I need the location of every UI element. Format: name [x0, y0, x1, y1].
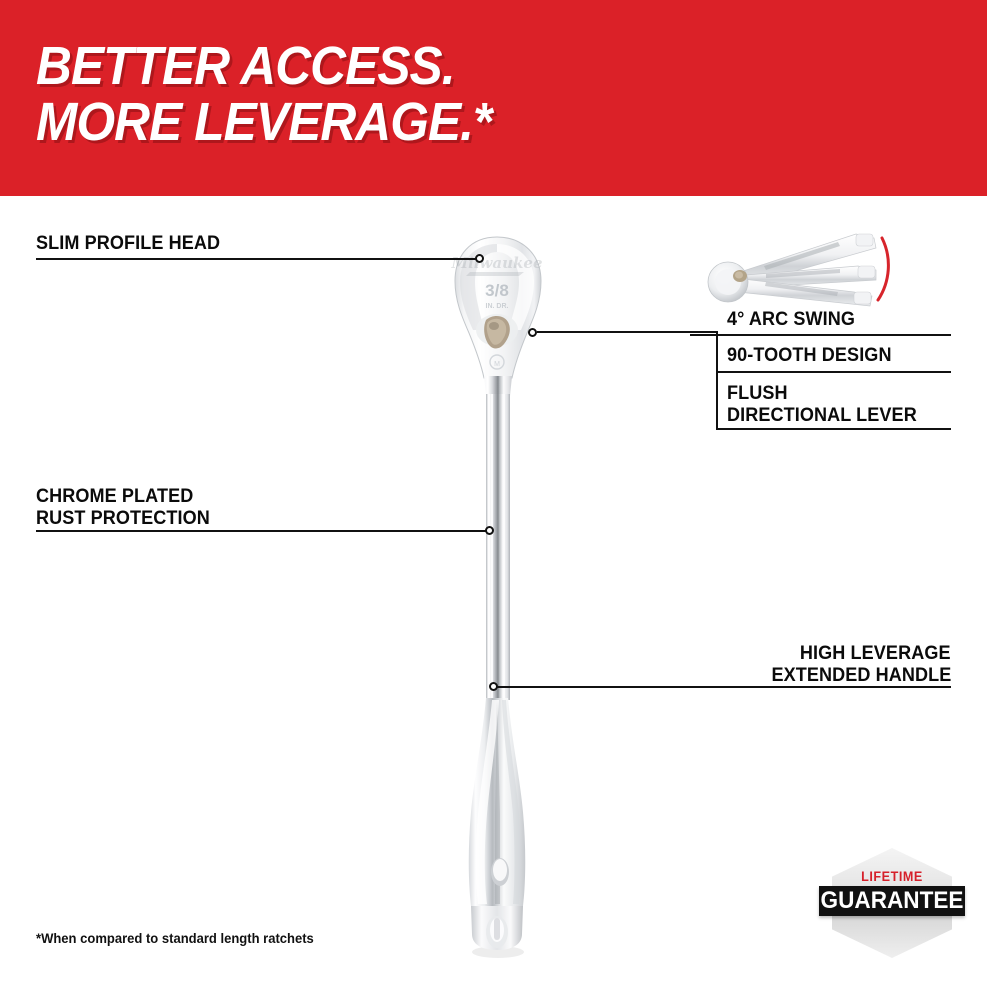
callout-arc-swing-label: 4° ARC SWING: [727, 309, 855, 331]
callout-chrome-plated-line-2: RUST PROTECTION: [36, 508, 210, 530]
callout-flush-lever-line-2: DIRECTIONAL LEVER: [727, 405, 917, 427]
callout-stack-connector: [716, 332, 718, 430]
svg-text:M: M: [494, 361, 500, 368]
svg-text:Milwaukee: Milwaukee: [450, 254, 542, 272]
badge-lifetime-text: LIFETIME: [825, 868, 958, 884]
headline-line-1: BETTER ACCESS.: [36, 38, 455, 94]
header-banner: BETTER ACCESS. MORE LEVERAGE.*: [0, 0, 987, 196]
callout-lever-endpoint: [528, 328, 537, 337]
callout-chrome-plated-endpoint: [485, 526, 494, 535]
arc-swing-illustration: [706, 232, 896, 310]
callout-high-leverage-leader: [496, 686, 951, 688]
divider-arc-swing: [690, 334, 951, 336]
callout-high-leverage-line-1: HIGH LEVERAGE: [800, 643, 951, 665]
head-stamp: [490, 355, 504, 369]
product-feature-callout-image: BETTER ACCESS. MORE LEVERAGE.*: [0, 0, 987, 988]
callout-slim-profile-head-leader: [36, 258, 478, 260]
drive-size-sub-marking: IN. DR.: [486, 303, 509, 310]
callout-lever-leader: [537, 331, 718, 333]
badge-bar: GUARANTEE: [819, 886, 965, 916]
callout-chrome-plated-leader: [36, 530, 488, 532]
badge-guarantee-text: GUARANTEE: [821, 887, 964, 915]
lifetime-guarantee-badge: LIFETIME GUARANTEE: [818, 848, 966, 958]
directional-lever: [476, 314, 518, 348]
arc-swing-range-indicator: [878, 238, 888, 300]
ratchet-shaft: [486, 394, 510, 700]
callout-high-leverage-line-2: EXTENDED HANDLE: [771, 665, 951, 687]
divider-flush-lever: [716, 428, 951, 430]
callout-slim-profile-head-endpoint: [475, 254, 484, 263]
drive-size-marking: 3/8: [485, 281, 509, 300]
headline-line-2: MORE LEVERAGE.*: [36, 94, 491, 150]
callout-flush-lever-line-1: FLUSH: [727, 383, 788, 405]
ratchet-handle: [469, 698, 526, 906]
callout-tooth-design-label: 90-TOOTH DESIGN: [727, 345, 892, 367]
footnote-text: *When compared to standard length ratche…: [36, 930, 314, 946]
callout-chrome-plated-line-1: CHROME PLATED: [36, 486, 193, 508]
hang-hole: [491, 858, 509, 886]
callout-slim-profile-head-label: SLIM PROFILE HEAD: [36, 233, 220, 255]
ratchet-neck: [484, 376, 512, 396]
handle-end-cap: [471, 906, 523, 950]
callout-high-leverage-endpoint: [489, 682, 498, 691]
divider-tooth-design: [716, 371, 951, 373]
